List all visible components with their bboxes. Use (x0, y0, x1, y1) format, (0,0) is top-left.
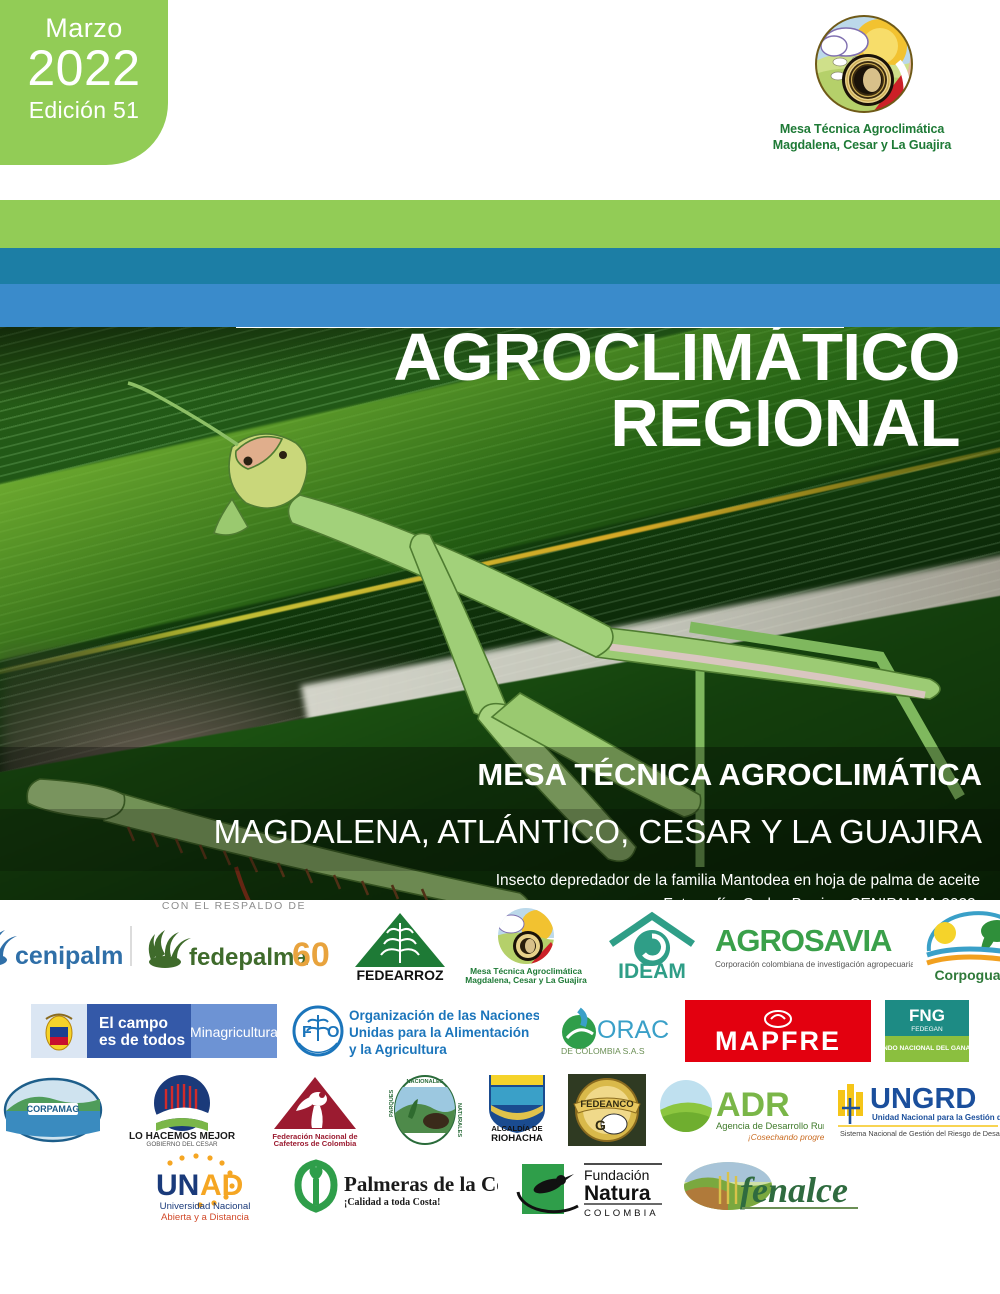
sponsor-logos: cenipalma CON EL RESPALDO DE fedepalma 6… (0, 900, 1000, 1294)
orac-text: ORAC (597, 1016, 669, 1044)
photo-caption-line1: Insecto depredador de la familia Mantode… (0, 869, 980, 893)
palmeras-text: Palmeras de la Costa S.A (344, 1172, 498, 1196)
minagricultura-label: Minagricultura (190, 1024, 277, 1040)
con-el-respaldo-de-label: CON EL RESPALDO DE (162, 900, 306, 912)
parques-text: PARQUES (389, 1089, 395, 1117)
logo-ideam-text: IDEAM (618, 960, 686, 983)
fao-line2: Unidas para la Alimentación (349, 1025, 529, 1040)
issue-month: Marzo (45, 14, 123, 42)
fao-line1: Organización de las Naciones (349, 1008, 539, 1023)
natura-line3: COLOMBIA (584, 1208, 659, 1219)
photo-credit: Insecto depredador de la familia Mantode… (0, 869, 980, 900)
cafeteros-line2: Cafeteros de Colombia (274, 1139, 357, 1147)
alcaldia-line2: RIOHACHA (491, 1133, 543, 1144)
svg-text:AD: AD (200, 1169, 243, 1202)
logo-mapfre: MAPFRE (685, 1000, 871, 1062)
logo-federacion-nacional-de-cafeteros: Federación Nacional de Cafeteros de Colo… (256, 1073, 374, 1147)
cover-photo: Boletín AGROCLIMÁTICO REGIONAL MESA TÉCN… (0, 327, 1000, 900)
minagricultura-line2: es de todos (99, 1032, 185, 1049)
logo-fedearroz: FEDEARROZ (345, 909, 455, 983)
gobierno-del-cesar-text: GOBIERNO DEL CESAR (146, 1141, 218, 1147)
photo-caption-line2: Fotografía: Carlos Barrios, CENIPALMA 20… (0, 893, 980, 900)
naturales-text: NATURALES (456, 1103, 462, 1137)
logo-fenalce: fenalce (680, 1158, 860, 1218)
subtitle-regions: MAGDALENA, ATLÁNTICO, CESAR Y LA GUAJIRA (2, 813, 982, 851)
logo-agrosavia-tagline: Corporación colombiana de investigación … (715, 960, 913, 969)
band-green (0, 200, 1000, 248)
orac-subtext: DE COLOMBIA S.A.S (561, 1046, 645, 1056)
logo-fedepalma: CON EL RESPALDO DE fedepalma 60 (129, 920, 339, 972)
logo-gobierno-del-cesar: LO HACEMOS MEJOR GOBIERNO DEL CESAR (118, 1073, 246, 1147)
logo-mesa-tecnica-small: Mesa Técnica Agroclimática Magdalena, Ce… (461, 906, 591, 986)
logo-fundacion-natura-colombia: Fundación Natura COLOMBIA (514, 1156, 664, 1220)
mesa-tecnica-agroclimatica-logo: Mesa Técnica Agroclimática Magdalena, Ce… (738, 12, 986, 172)
logo-cenipalma: cenipalma (0, 920, 123, 972)
sponsor-row-2: El campo es de todos Minagricultura F O … (0, 992, 1000, 1070)
minagricultura-line1: El campo (99, 1015, 168, 1032)
mta-caption-line1: Mesa Técnica Agroclimática (738, 122, 986, 138)
issue-edition: Edición 51 (29, 98, 139, 123)
logo-minagricultura: El campo es de todos Minagricultura (31, 1004, 277, 1058)
natura-line1: Fundación (584, 1167, 649, 1183)
fedegan-text: FEDEGAN (911, 1026, 943, 1033)
fedeanco-text: FEDEANCO (580, 1099, 633, 1110)
logo-cenipalma-text: cenipalma (15, 942, 123, 970)
issue-year: 2022 (27, 40, 140, 96)
sponsor-row-4: UN AD Universidad Nacional Abierta y a D… (0, 1150, 1000, 1226)
logo-mesa-tecnica-line2: Magdalena, Cesar y La Guajira (465, 975, 587, 985)
mapfre-text: MAPFRE (715, 1026, 841, 1056)
adr-text: ADR (716, 1086, 790, 1124)
ungrd-sistema-text: Sistema Nacional de Gestión del Riesgo d… (840, 1129, 1000, 1138)
mta-emblem-icon (810, 12, 918, 122)
alcaldia-line1: ALCALDÍA DE (491, 1124, 542, 1133)
title-regional: REGIONAL (610, 389, 960, 459)
logo-corpoguajira-text: Corpoguajira (934, 967, 1000, 983)
unad-line1: Universidad Nacional (160, 1201, 251, 1212)
sponsor-row-3: CORPAMAG LO HACEMOS MEJOR GOBIERNO DEL C… (0, 1070, 1000, 1150)
logo-palmeras-de-la-costa: Palmeras de la Costa S.A ¡Calidad a toda… (286, 1157, 498, 1219)
unad-line2: Abierta y a Distancia (161, 1212, 250, 1223)
fao-line3: y la Agricultura (349, 1042, 447, 1057)
fng-text: FNG (909, 1006, 945, 1025)
fondo-nacional-del-ganado-text: FONDO NACIONAL DEL GANADO (885, 1045, 969, 1052)
logo-fedepalma-text: fedepalma (189, 944, 308, 971)
issue-badge: Marzo 2022 Edición 51 (0, 0, 168, 165)
mta-caption-line2: Magdalena, Cesar y La Guajira (738, 138, 986, 154)
fenalce-text: fenalce (740, 1170, 848, 1210)
corpamag-text: CORPAMAG (27, 1104, 80, 1114)
mta-logo-caption: Mesa Técnica Agroclimática Magdalena, Ce… (738, 122, 986, 153)
boletin-cover-page: Marzo 2022 Edición 51 (0, 0, 1000, 1294)
band-teal (0, 248, 1000, 284)
header-area: Marzo 2022 Edición 51 (0, 0, 1000, 200)
natura-line2: Natura (584, 1182, 651, 1205)
logo-fedearroz-text: FEDEARROZ (356, 967, 444, 983)
logo-fng-fedegan: FNG FEDEGAN FONDO NACIONAL DEL GANADO (885, 1000, 969, 1062)
logo-agrosavia-text: AGROSAVIA (715, 923, 892, 958)
palmeras-slogan: ¡Calidad a toda Costa! (344, 1197, 440, 1208)
adr-tagline: Agencia de Desarrollo Rural (716, 1120, 824, 1131)
band-blue (0, 284, 1000, 327)
title-agroclimatico: AGROCLIMÁTICO (393, 327, 960, 393)
logo-adr: ADR Agencia de Desarrollo Rural ¡Cosecha… (656, 1076, 824, 1144)
logo-fedepalma-60-badge: 60 (292, 936, 330, 972)
svg-text:UN: UN (156, 1169, 199, 1202)
subtitle-mesa-tecnica: MESA TÉCNICA AGROCLIMÁTICA (2, 757, 982, 793)
logo-ungrd: UNGRD Unidad Nacional para la Gestión de… (834, 1078, 1000, 1142)
nacionales-text: NACIONALES (407, 1079, 444, 1085)
logo-orac-de-colombia: ORAC DE COLOMBIA S.A.S (553, 1002, 671, 1060)
logo-alcaldia-de-riohacha: ALCALDÍA DE RIOHACHA (476, 1073, 558, 1147)
ungrd-subtitle: Unidad Nacional para la Gestión del Ries… (872, 1113, 1000, 1122)
logo-ideam: IDEAM (597, 908, 707, 984)
svg-text:F: F (302, 1024, 312, 1041)
logo-corpamag: CORPAMAG (0, 1075, 108, 1145)
sponsor-row-1: cenipalma CON EL RESPALDO DE fedepalma 6… (0, 900, 1000, 992)
logo-fao: F O Organización de las Naciones Unidas … (291, 1003, 539, 1059)
ungrd-text: UNGRD (870, 1083, 976, 1115)
logo-agrosavia: AGROSAVIA Corporación colombiana de inve… (713, 917, 913, 975)
svg-text:G: G (595, 1117, 606, 1133)
adr-slogan: ¡Cosechando progreso! (748, 1132, 824, 1142)
logo-parques-nacionales-naturales: PARQUES NACIONALES NATURALES (384, 1073, 466, 1147)
logo-corpoguajira: Corpoguajira (919, 909, 1000, 983)
logo-fedeanco: FEDEANCO G (568, 1074, 646, 1146)
logo-unad: UN AD Universidad Nacional Abierta y a D… (140, 1153, 270, 1223)
svg-text:O: O (327, 1024, 339, 1041)
